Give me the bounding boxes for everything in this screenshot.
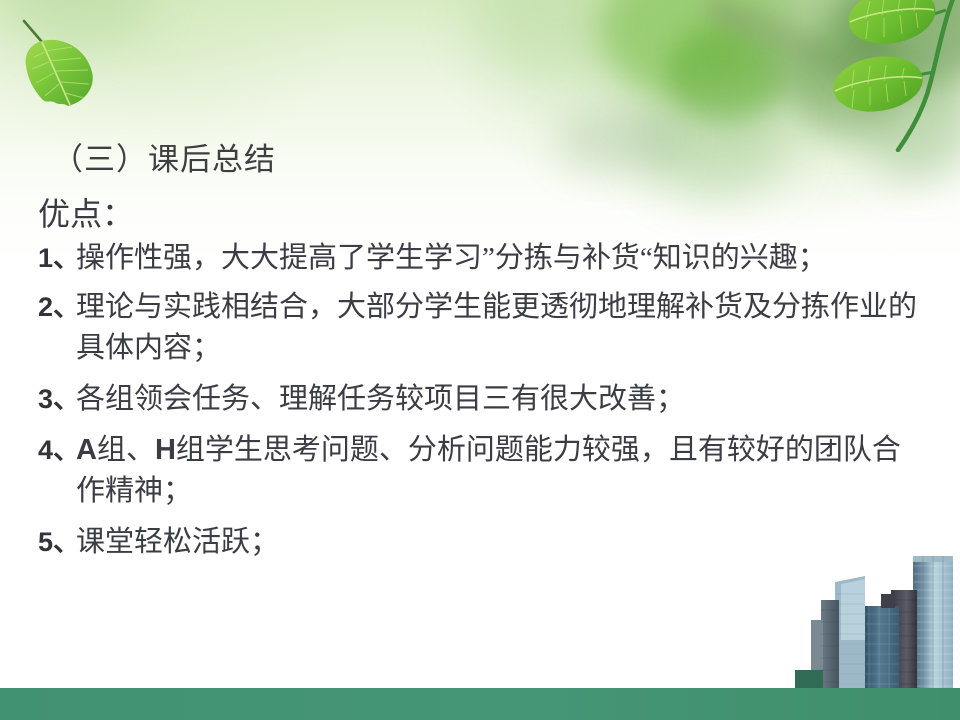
list-item-text: 理论与实践相结合，大部分学生能更透彻地理解补货及分拣作业的具体内容；: [76, 291, 917, 364]
list-item-number: 2、: [38, 287, 80, 328]
bullet-list: 1、 操作性强，大大提高了学生学习”分拣与补货“知识的兴趣； 2、 理论与实践相…: [38, 238, 924, 573]
list-item: 4、 A组、H组学生思考问题、分析问题能力较强，且有较好的团队合作精神；: [38, 430, 924, 512]
list-item-number: 5、: [38, 522, 80, 563]
list-item: 5、 课堂轻松活跃；: [38, 522, 924, 563]
list-item-text: 组学生思考问题、分析问题能力较强，且有较好的团队合作精神；: [76, 434, 901, 507]
list-item-number: 1、: [38, 238, 80, 279]
list-item: 2、 理论与实践相结合，大部分学生能更透彻地理解补货及分拣作业的具体内容；: [38, 287, 924, 369]
list-item-text-mid: 组、: [97, 434, 155, 466]
page-title: （三）课后总结: [52, 134, 276, 179]
slide-canvas: （三）课后总结 优点： 1、 操作性强，大大提高了学生学习”分拣与补货“知识的兴…: [0, 0, 960, 720]
list-item-number: 4、: [38, 430, 80, 471]
slide-content: （三）课后总结 优点： 1、 操作性强，大大提高了学生学习”分拣与补货“知识的兴…: [0, 0, 960, 720]
list-item-number: 3、: [38, 379, 80, 420]
list-item-emphasis-h: H: [155, 434, 176, 466]
sub-heading-advantages: 优点：: [38, 189, 134, 235]
list-item-text: 各组领会任务、理解任务较项目三有很大改善；: [76, 383, 685, 415]
list-item-text: 操作性强，大大提高了学生学习”分拣与补货“知识的兴趣；: [76, 242, 827, 274]
list-item: 1、 操作性强，大大提高了学生学习”分拣与补货“知识的兴趣；: [38, 238, 924, 279]
list-item-text: 课堂轻松活跃；: [76, 526, 279, 558]
list-item: 3、 各组领会任务、理解任务较项目三有很大改善；: [38, 379, 924, 420]
